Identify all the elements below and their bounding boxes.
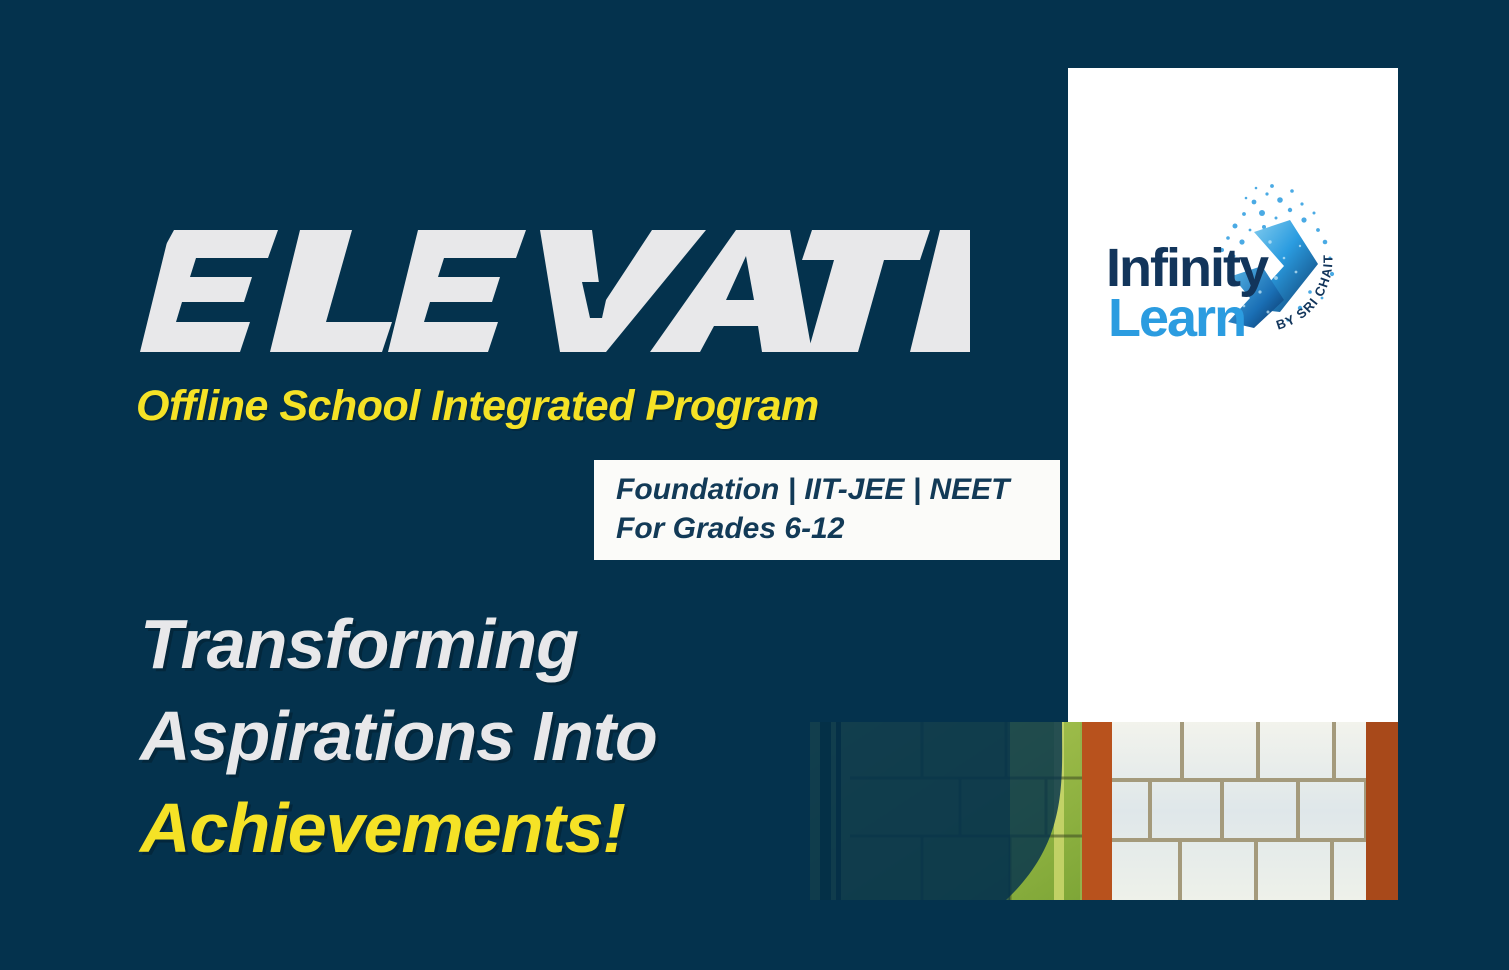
elevate-wordmark-svg — [140, 222, 970, 362]
info-courses: Foundation | IIT-JEE | NEET — [616, 470, 1060, 509]
logo-svg: Infinity Learn BY SRI CHAITANYA — [1104, 180, 1374, 360]
infinity-learn-logo: Infinity Learn BY SRI CHAITANYA — [1104, 180, 1374, 360]
tagline-line-3: Achievements! — [140, 782, 880, 874]
program-info-box: Foundation | IIT-JEE | NEET For Grades 6… — [594, 460, 1060, 560]
info-grades: For Grades 6-12 — [616, 509, 1060, 548]
photo-svg — [810, 722, 1398, 900]
tagline-block: Transforming Aspirations Into Achievemen… — [140, 598, 880, 874]
classroom-window-photo — [810, 722, 1398, 900]
tagline-line-1: Transforming — [140, 598, 880, 690]
logo-panel — [1068, 68, 1398, 724]
program-subtitle: Offline School Integrated Program — [136, 382, 996, 431]
promo-banner: Infinity Learn BY SRI CHAITANYA — [0, 0, 1509, 970]
tagline-line-2: Aspirations Into — [140, 690, 880, 782]
logo-name-bottom: Learn — [1108, 288, 1245, 348]
elevate-wordmark: ELEVATE — [140, 222, 970, 362]
